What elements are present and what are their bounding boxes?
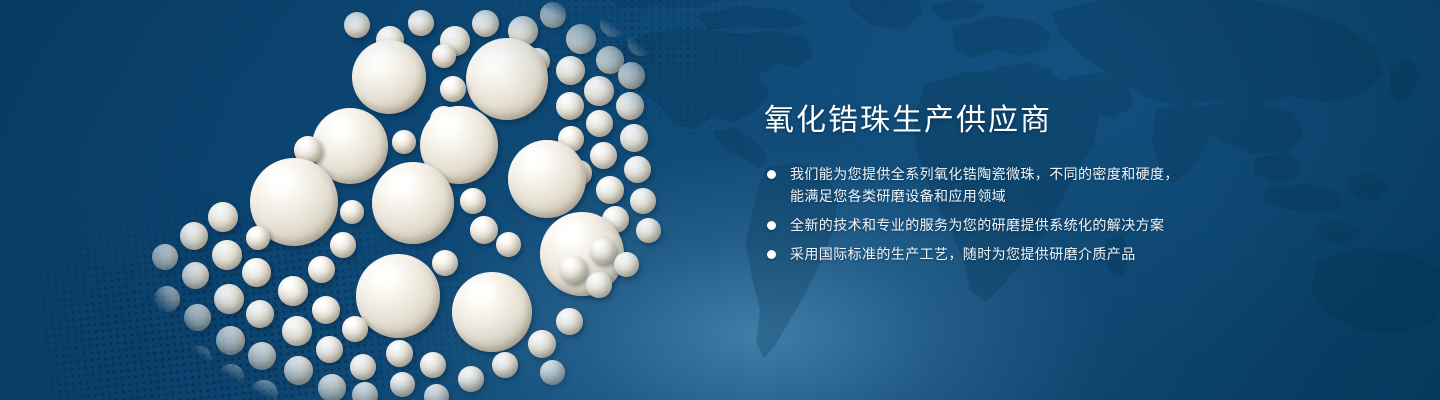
list-item: 采用国际标准的生产工艺，随时为您提供研磨介质产品 (764, 243, 1384, 265)
bullet-line-1: 我们能为您提供全系列氧化锆陶瓷微珠，不同的密度和硬度， (790, 166, 1179, 182)
list-item: 全新的技术和专业的服务为您的研磨提供系统化的解决方案 (764, 214, 1384, 236)
hero-banner: 氧化锆珠生产供应商 我们能为您提供全系列氧化锆陶瓷微珠，不同的密度和硬度， 能满… (0, 0, 1440, 400)
feature-bullet-list: 我们能为您提供全系列氧化锆陶瓷微珠，不同的密度和硬度， 能满足您各类研磨设备和应… (764, 163, 1384, 265)
list-item: 我们能为您提供全系列氧化锆陶瓷微珠，不同的密度和硬度， 能满足您各类研磨设备和应… (764, 163, 1384, 207)
bullet-text: 全新的技术和专业的服务为您的研磨提供系统化的解决方案 (790, 214, 1384, 236)
bullet-dot-icon (767, 170, 776, 179)
bullet-dot-icon (767, 250, 776, 259)
banner-content: 氧化锆珠生产供应商 我们能为您提供全系列氧化锆陶瓷微珠，不同的密度和硬度， 能满… (764, 104, 1384, 265)
bullet-text: 采用国际标准的生产工艺，随时为您提供研磨介质产品 (790, 243, 1384, 265)
bullet-line-1: 全新的技术和专业的服务为您的研磨提供系统化的解决方案 (790, 217, 1164, 233)
banner-headline: 氧化锆珠生产供应商 (764, 104, 1384, 137)
bullet-dot-icon (767, 221, 776, 230)
bullet-text: 我们能为您提供全系列氧化锆陶瓷微珠，不同的密度和硬度， 能满足您各类研磨设备和应… (790, 163, 1384, 207)
bullet-line-1: 采用国际标准的生产工艺，随时为您提供研磨介质产品 (790, 246, 1136, 262)
bullet-line-2: 能满足您各类研磨设备和应用领域 (790, 185, 1384, 207)
